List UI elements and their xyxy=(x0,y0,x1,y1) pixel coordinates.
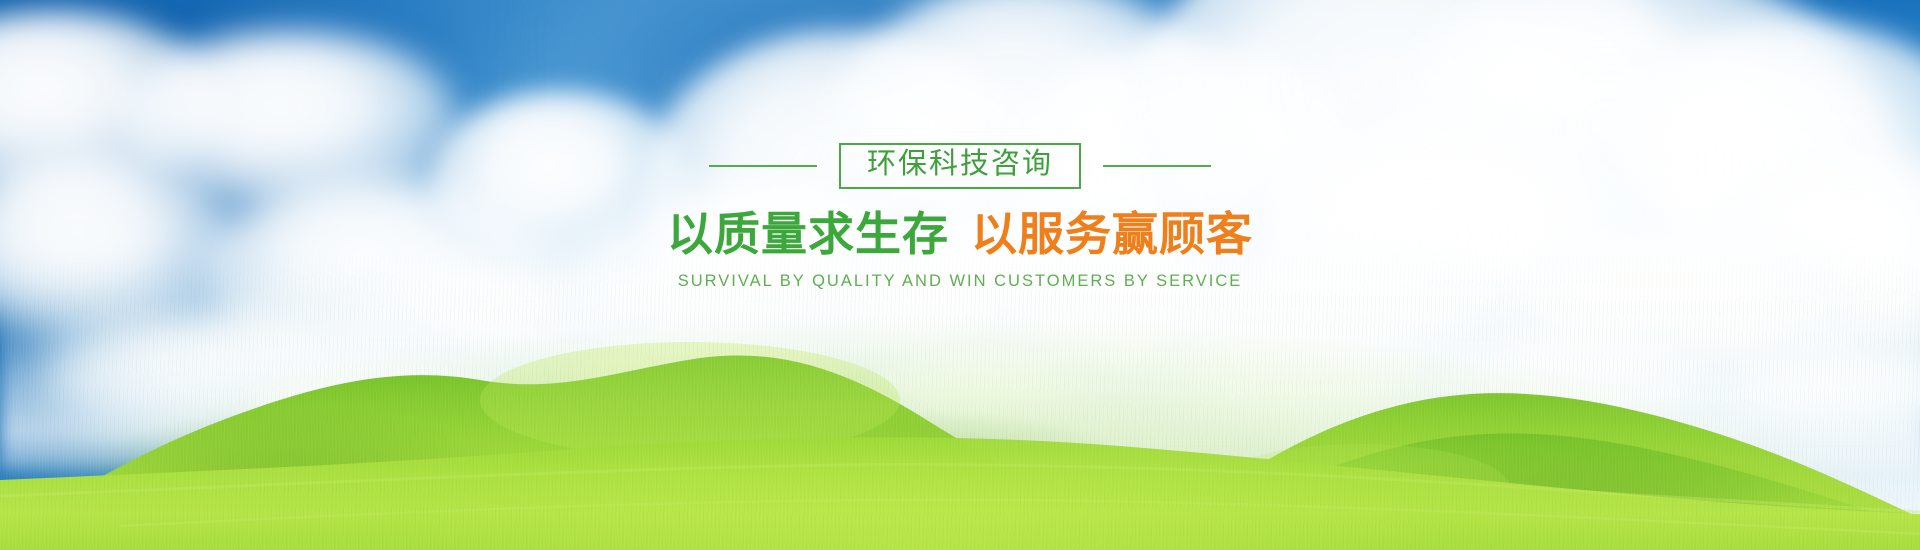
eyebrow-row: 环保科技咨询 xyxy=(0,140,1920,192)
headline-orange: 以服务赢顾客 xyxy=(971,208,1253,260)
headline: 以质量求生存以服务赢顾客 xyxy=(0,210,1920,260)
grass-hills xyxy=(0,250,1920,550)
meadow-foreground xyxy=(0,250,1920,550)
eyebrow-label: 环保科技咨询 xyxy=(867,148,1053,180)
headline-green: 以质量求生存 xyxy=(667,208,949,260)
hero-banner: 环保科技咨询 以质量求生存以服务赢顾客 SURVIVAL BY QUALITY … xyxy=(0,0,1920,550)
eyebrow-box: 环保科技咨询 xyxy=(839,143,1081,189)
banner-content: 环保科技咨询 以质量求生存以服务赢顾客 SURVIVAL BY QUALITY … xyxy=(0,140,1920,291)
decorative-rule-right xyxy=(1103,165,1211,167)
decorative-rule-left xyxy=(709,165,817,167)
subline-english: SURVIVAL BY QUALITY AND WIN CUSTOMERS BY… xyxy=(0,272,1920,291)
